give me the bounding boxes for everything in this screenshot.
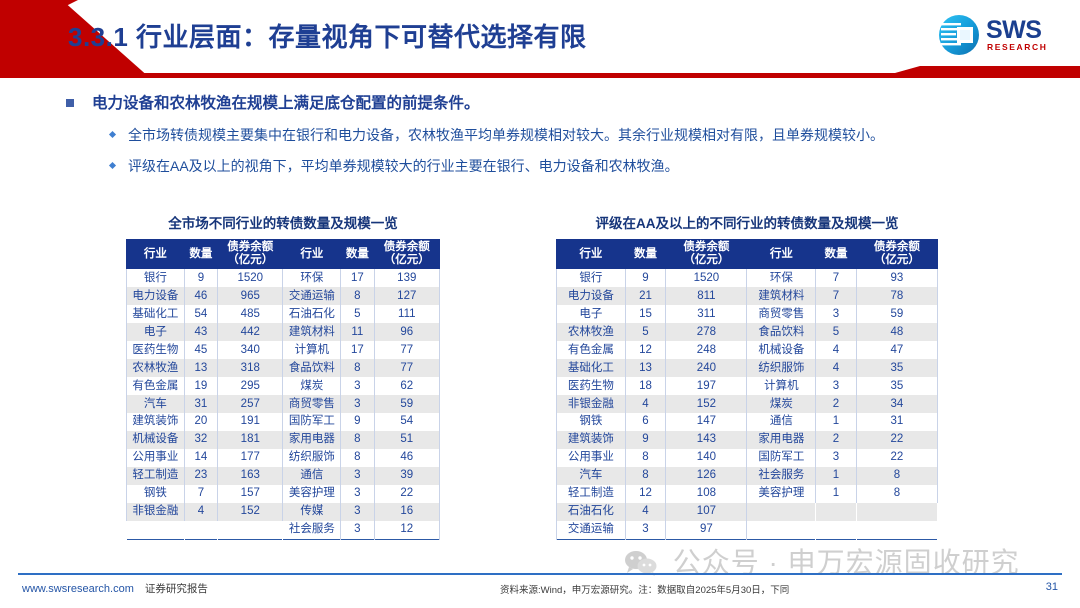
- table-cell: 152: [218, 503, 283, 521]
- table-cell: [127, 521, 185, 539]
- bullet-level1-text: 电力设备和农林牧渔在规模上满足底仓配置的前提条件。: [92, 95, 480, 112]
- table-cell: 62: [374, 377, 439, 395]
- table-cell: 1520: [218, 269, 283, 287]
- table-cell: 77: [374, 341, 439, 359]
- table-cell: 1: [816, 485, 857, 503]
- table-column-header: 行业: [283, 239, 341, 269]
- table-cell: 商贸零售: [283, 395, 341, 413]
- footer-report-label: 证券研究报告: [145, 583, 208, 595]
- table-cell: 8: [856, 485, 937, 503]
- table-cell: 4: [184, 503, 217, 521]
- table-cell: 8: [341, 287, 374, 305]
- table-cell: 商贸零售: [747, 305, 816, 323]
- table-cell: 1520: [666, 269, 747, 287]
- logo-wordmark: SWS: [986, 18, 1041, 43]
- table-cell: 5: [816, 323, 857, 341]
- table-column-header: 数量: [816, 239, 857, 269]
- table-cell: 14: [184, 449, 217, 467]
- table-column-header: 数量: [625, 239, 666, 269]
- table-cell: 社会服务: [283, 521, 341, 539]
- table-row: 汽车31257商贸零售359: [127, 395, 440, 413]
- table-cell: 通信: [283, 467, 341, 485]
- table-cell: 46: [374, 449, 439, 467]
- page-title: 3.3.1 行业层面：存量视角下可替代选择有限: [68, 17, 587, 54]
- table-cell: 39: [374, 467, 439, 485]
- table-body: 银行91520环保17139电力设备46965交通运输8127基础化工54485…: [127, 269, 440, 539]
- table-cell: 278: [666, 323, 747, 341]
- table-column-header: 行业: [127, 239, 185, 269]
- table-cell: 152: [666, 395, 747, 413]
- table-cell: 8: [856, 467, 937, 485]
- table-column-header: 数量: [341, 239, 374, 269]
- table-cell: 181: [218, 431, 283, 449]
- table-cell: 8: [341, 431, 374, 449]
- table-cell: 9: [184, 269, 217, 287]
- table-row: 有色金属12248机械设备447: [557, 341, 938, 359]
- table-cell: 248: [666, 341, 747, 359]
- table-cell: 34: [856, 395, 937, 413]
- table-cell: 钢铁: [557, 413, 626, 431]
- table-cell: 78: [856, 287, 937, 305]
- table-header-row: 行业数量债券余额（亿元）行业数量债券余额（亿元）: [127, 239, 440, 269]
- table-all-market: 行业数量债券余额（亿元）行业数量债券余额（亿元） 银行91520环保17139电…: [126, 239, 440, 540]
- table-cell: 257: [218, 395, 283, 413]
- table-cell: 22: [856, 449, 937, 467]
- table-cell: 45: [184, 341, 217, 359]
- table-cell: 3: [625, 521, 666, 539]
- table-cell: 3: [341, 521, 374, 539]
- table-cell: 煤炭: [747, 395, 816, 413]
- table-cell: 有色金属: [127, 377, 185, 395]
- table-row: 农林牧渔13318食品饮料877: [127, 359, 440, 377]
- bullet-list: 电力设备和农林牧渔在规模上满足底仓配置的前提条件。 全市场转债规模主要集中在银行…: [0, 92, 1080, 177]
- table-row: 公用事业8140国防军工322: [557, 449, 938, 467]
- table-cell: 12: [625, 485, 666, 503]
- sws-research-logo: SWS RESEARCH: [938, 12, 1066, 62]
- table-cell: 传媒: [283, 503, 341, 521]
- table-cell: 35: [856, 359, 937, 377]
- table-cell: 机械设备: [127, 431, 185, 449]
- table-cell: [747, 503, 816, 521]
- table-column-header: 债券余额（亿元）: [374, 239, 439, 269]
- table-title: 全市场不同行业的转债数量及规模一览: [126, 212, 440, 232]
- table-cell: 23: [184, 467, 217, 485]
- table-cell: 石油石化: [283, 305, 341, 323]
- table-cell: 食品饮料: [747, 323, 816, 341]
- table-cell: 3: [341, 395, 374, 413]
- logo-subtitle: RESEARCH: [987, 43, 1048, 52]
- table-cell: 汽车: [127, 395, 185, 413]
- table-cell: 9: [625, 269, 666, 287]
- table-cell: 4: [816, 359, 857, 377]
- table-cell: 电子: [557, 305, 626, 323]
- table-cell: 银行: [557, 269, 626, 287]
- slide-header: 3.3.1 行业层面：存量视角下可替代选择有限: [0, 0, 1080, 88]
- table-cell: 8: [625, 467, 666, 485]
- table-cell: 295: [218, 377, 283, 395]
- table-cell: 21: [625, 287, 666, 305]
- wechat-watermark: 公众号 · 申万宏源固收研究: [624, 541, 1020, 583]
- table-cell: [856, 503, 937, 521]
- table-cell: 4: [625, 503, 666, 521]
- table-aa-and-above: 行业数量债券余额（亿元）行业数量债券余额（亿元） 银行91520环保793电力设…: [556, 239, 938, 540]
- footer-website-link[interactable]: www.swsresearch.com: [22, 583, 134, 595]
- table-cell: 交通运输: [557, 521, 626, 539]
- table-cell: 3: [816, 377, 857, 395]
- table-cell: 2: [816, 431, 857, 449]
- table-cell: 17: [341, 269, 374, 287]
- table-row: 基础化工13240纺织服饰435: [557, 359, 938, 377]
- table-cell: 7: [184, 485, 217, 503]
- table-cell: 电力设备: [127, 287, 185, 305]
- table-cell: 965: [218, 287, 283, 305]
- table-cell: 3: [341, 467, 374, 485]
- table-cell: 医药生物: [557, 377, 626, 395]
- table-cell: 59: [856, 305, 937, 323]
- table-cell: 建筑装饰: [127, 413, 185, 431]
- table-cell: 12: [625, 341, 666, 359]
- table-cell: 电力设备: [557, 287, 626, 305]
- footer-left: www.swsresearch.com 证券研究报告: [22, 581, 208, 596]
- table-cell: 公用事业: [557, 449, 626, 467]
- bullet-level2-text: 全市场转债规模主要集中在银行和电力设备，农林牧渔平均单券规模相对较大。其余行业规…: [128, 127, 884, 143]
- footer-source-note: 资料来源:Wind，申万宏源研究。注：数据取自2025年5月30日，下同: [500, 582, 789, 596]
- table-row: 汽车8126社会服务18: [557, 467, 938, 485]
- table-cell: 96: [374, 323, 439, 341]
- table-row: 钢铁6147通信131: [557, 413, 938, 431]
- sws-globe-icon: [938, 14, 980, 56]
- table-cell: 20: [184, 413, 217, 431]
- page-number: 31: [1046, 581, 1058, 593]
- table-row: 非银金融4152煤炭234: [557, 395, 938, 413]
- table-cell: 11: [341, 323, 374, 341]
- table-cell: 17: [341, 341, 374, 359]
- table-column-header: 债券余额（亿元）: [218, 239, 283, 269]
- table-row: 公用事业14177纺织服饰846: [127, 449, 440, 467]
- table-cell: 485: [218, 305, 283, 323]
- table-cell: 5: [341, 305, 374, 323]
- table-cell: 美容护理: [283, 485, 341, 503]
- table-cell: 147: [666, 413, 747, 431]
- table-block-aa-and-above: 评级在AA及以上的不同行业的转债数量及规模一览 行业数量债券余额（亿元）行业数量…: [556, 212, 938, 540]
- table-cell: 3: [341, 377, 374, 395]
- diamond-bullet-icon: [109, 162, 116, 169]
- table-title: 评级在AA及以上的不同行业的转债数量及规模一览: [556, 212, 938, 232]
- table-cell: 国防军工: [283, 413, 341, 431]
- table-cell: 97: [666, 521, 747, 539]
- table-cell: [856, 521, 937, 539]
- table-cell: 建筑装饰: [557, 431, 626, 449]
- table-cell: 机械设备: [747, 341, 816, 359]
- table-cell: [816, 503, 857, 521]
- table-cell: 51: [374, 431, 439, 449]
- table-cell: 8: [341, 449, 374, 467]
- table-cell: 9: [625, 431, 666, 449]
- table-cell: 19: [184, 377, 217, 395]
- table-cell: 108: [666, 485, 747, 503]
- table-row: 建筑装饰9143家用电器222: [557, 431, 938, 449]
- table-row: 机械设备32181家用电器851: [127, 431, 440, 449]
- table-cell: 公用事业: [127, 449, 185, 467]
- table-cell: 47: [856, 341, 937, 359]
- table-cell: 54: [374, 413, 439, 431]
- table-cell: 美容护理: [747, 485, 816, 503]
- table-cell: 3: [816, 305, 857, 323]
- table-cell: 非银金融: [557, 395, 626, 413]
- table-cell: 197: [666, 377, 747, 395]
- table-cell: 基础化工: [557, 359, 626, 377]
- table-cell: 9: [341, 413, 374, 431]
- table-cell: 有色金属: [557, 341, 626, 359]
- table-column-header: 行业: [747, 239, 816, 269]
- table-cell: 4: [816, 341, 857, 359]
- bullet-level2-text: 评级在AA及以上的视角下，平均单券规模较大的行业主要在银行、电力设备和农林牧渔。: [128, 158, 679, 174]
- table-cell: 177: [218, 449, 283, 467]
- table-cell: 77: [374, 359, 439, 377]
- header-red-bar: [0, 66, 1080, 78]
- table-cell: 6: [625, 413, 666, 431]
- table-cell: 59: [374, 395, 439, 413]
- table-cell: 111: [374, 305, 439, 323]
- table-cell: 环保: [283, 269, 341, 287]
- table-row: 石油石化4107: [557, 503, 938, 521]
- table-cell: 煤炭: [283, 377, 341, 395]
- table-column-header: 债券余额（亿元）: [856, 239, 937, 269]
- bullet-level1: 电力设备和农林牧渔在规模上满足底仓配置的前提条件。: [0, 92, 1080, 115]
- table-cell: 139: [374, 269, 439, 287]
- table-row: 银行91520环保793: [557, 269, 938, 287]
- table-cell: 43: [184, 323, 217, 341]
- table-row: 电力设备21811建筑材料778: [557, 287, 938, 305]
- table-cell: 纺织服饰: [747, 359, 816, 377]
- table-cell: 钢铁: [127, 485, 185, 503]
- table-cell: 107: [666, 503, 747, 521]
- table-cell: [816, 521, 857, 539]
- table-row: 有色金属19295煤炭362: [127, 377, 440, 395]
- table-row: 非银金融4152传媒316: [127, 503, 440, 521]
- table-header-row: 行业数量债券余额（亿元）行业数量债券余额（亿元）: [557, 239, 938, 269]
- table-cell: 8: [625, 449, 666, 467]
- table-cell: 5: [625, 323, 666, 341]
- table-cell: 126: [666, 467, 747, 485]
- table-column-header: 数量: [184, 239, 217, 269]
- table-cell: 非银金融: [127, 503, 185, 521]
- table-cell: 35: [856, 377, 937, 395]
- table-cell: 54: [184, 305, 217, 323]
- table-cell: 7: [816, 269, 857, 287]
- bullet-level2-item: 全市场转债规模主要集中在银行和电力设备，农林牧渔平均单券规模相对较大。其余行业规…: [0, 125, 1080, 146]
- table-block-all-market: 全市场不同行业的转债数量及规模一览 行业数量债券余额（亿元）行业数量债券余额（亿…: [126, 212, 440, 540]
- table-cell: 通信: [747, 413, 816, 431]
- table-cell: 环保: [747, 269, 816, 287]
- table-cell: 电子: [127, 323, 185, 341]
- table-cell: 48: [856, 323, 937, 341]
- table-row: 医药生物18197计算机335: [557, 377, 938, 395]
- table-row: 轻工制造12108美容护理18: [557, 485, 938, 503]
- table-cell: 157: [218, 485, 283, 503]
- wechat-icon: [624, 550, 658, 583]
- table-cell: 1: [816, 413, 857, 431]
- table-row: 建筑装饰20191国防军工954: [127, 413, 440, 431]
- table-cell: 银行: [127, 269, 185, 287]
- table-row: 社会服务312: [127, 521, 440, 539]
- table-row: 电子43442建筑材料1196: [127, 323, 440, 341]
- table-body: 银行91520环保793电力设备21811建筑材料778电子15311商贸零售3…: [557, 269, 938, 539]
- table-row: 轻工制造23163通信339: [127, 467, 440, 485]
- table-cell: 311: [666, 305, 747, 323]
- table-cell: [218, 521, 283, 539]
- table-cell: 国防军工: [747, 449, 816, 467]
- footer-divider: [18, 573, 1062, 575]
- table-row: 基础化工54485石油石化5111: [127, 305, 440, 323]
- table-column-header: 债券余额（亿元）: [666, 239, 747, 269]
- table-row: 电子15311商贸零售359: [557, 305, 938, 323]
- table-cell: 442: [218, 323, 283, 341]
- table-row: 钢铁7157美容护理322: [127, 485, 440, 503]
- table-cell: 31: [856, 413, 937, 431]
- table-cell: 食品饮料: [283, 359, 341, 377]
- table-cell: 建筑材料: [747, 287, 816, 305]
- table-cell: 计算机: [283, 341, 341, 359]
- table-cell: 13: [625, 359, 666, 377]
- table-cell: 3: [816, 449, 857, 467]
- table-cell: 8: [341, 359, 374, 377]
- table-cell: 家用电器: [747, 431, 816, 449]
- table-cell: 社会服务: [747, 467, 816, 485]
- table-cell: 93: [856, 269, 937, 287]
- table-cell: 基础化工: [127, 305, 185, 323]
- table-cell: 163: [218, 467, 283, 485]
- table-cell: 建筑材料: [283, 323, 341, 341]
- table-cell: 31: [184, 395, 217, 413]
- table-cell: 143: [666, 431, 747, 449]
- table-cell: 340: [218, 341, 283, 359]
- table-cell: 32: [184, 431, 217, 449]
- table-cell: 纺织服饰: [283, 449, 341, 467]
- table-cell: 16: [374, 503, 439, 521]
- table-cell: [184, 521, 217, 539]
- table-cell: 轻工制造: [127, 467, 185, 485]
- table-cell: 3: [341, 485, 374, 503]
- table-cell: [747, 521, 816, 539]
- bullet-level2-item: 评级在AA及以上的视角下，平均单券规模较大的行业主要在银行、电力设备和农林牧渔。: [0, 156, 1080, 177]
- table-cell: 13: [184, 359, 217, 377]
- table-cell: 811: [666, 287, 747, 305]
- table-cell: 石油石化: [557, 503, 626, 521]
- table-cell: 18: [625, 377, 666, 395]
- table-cell: 22: [374, 485, 439, 503]
- table-cell: 医药生物: [127, 341, 185, 359]
- table-cell: 轻工制造: [557, 485, 626, 503]
- table-cell: 318: [218, 359, 283, 377]
- table-row: 电力设备46965交通运输8127: [127, 287, 440, 305]
- table-cell: 农林牧渔: [557, 323, 626, 341]
- table-cell: 家用电器: [283, 431, 341, 449]
- table-cell: 127: [374, 287, 439, 305]
- table-row: 农林牧渔5278食品饮料548: [557, 323, 938, 341]
- table-cell: 191: [218, 413, 283, 431]
- table-cell: 1: [816, 467, 857, 485]
- table-row: 银行91520环保17139: [127, 269, 440, 287]
- table-cell: 22: [856, 431, 937, 449]
- table-cell: 4: [625, 395, 666, 413]
- table-cell: 15: [625, 305, 666, 323]
- table-cell: 计算机: [747, 377, 816, 395]
- table-cell: 240: [666, 359, 747, 377]
- table-cell: 2: [816, 395, 857, 413]
- table-column-header: 行业: [557, 239, 626, 269]
- table-row: 医药生物45340计算机1777: [127, 341, 440, 359]
- table-cell: 140: [666, 449, 747, 467]
- square-bullet-icon: [66, 99, 74, 107]
- table-cell: 46: [184, 287, 217, 305]
- table-cell: 7: [816, 287, 857, 305]
- table-cell: 12: [374, 521, 439, 539]
- table-cell: 3: [341, 503, 374, 521]
- table-cell: 农林牧渔: [127, 359, 185, 377]
- table-row: 交通运输397: [557, 521, 938, 539]
- table-cell: 交通运输: [283, 287, 341, 305]
- diamond-bullet-icon: [109, 131, 116, 138]
- table-cell: 汽车: [557, 467, 626, 485]
